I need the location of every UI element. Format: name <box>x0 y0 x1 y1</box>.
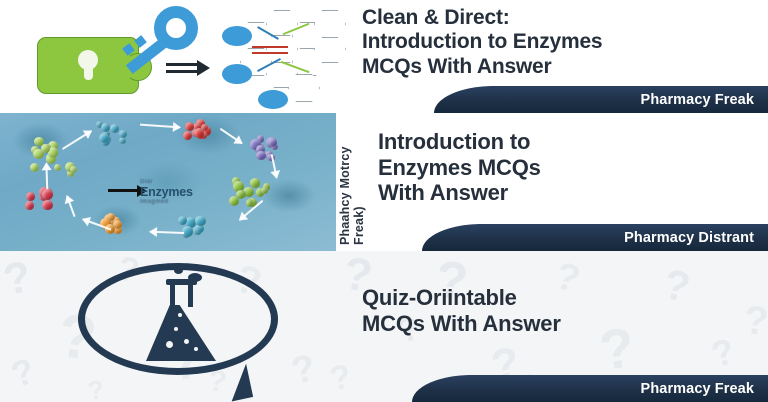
panel-quiz-flask: ???????????????????? <box>0 251 768 402</box>
panel-2-brand-label: Pharmacy Distrant <box>624 230 754 246</box>
panel-3-brand-label: Pharmacy Freak <box>641 381 754 397</box>
cycle-flow-arrow <box>140 124 180 129</box>
molecule-cluster <box>176 213 208 239</box>
panel-3-artwork <box>0 251 345 402</box>
cycle-flow-arrow <box>66 195 76 216</box>
speech-bubble-icon <box>78 263 278 375</box>
panel-enzyme-lock-key: Clean & Direct: Introduction to Enzymes … <box>0 0 768 113</box>
speech-bubble-tail <box>211 364 253 402</box>
molecule-cluster <box>98 211 128 235</box>
panel-2-brand-badge: Pharmacy Distrant <box>478 224 768 251</box>
arrow-head <box>197 60 210 76</box>
enzyme-center-label: Diar Enzymes Imagmed <box>140 179 193 205</box>
panel-1-text-column: Clean & Direct: Introduction to Enzymes … <box>340 0 768 113</box>
enzyme-label-main: Enzymes <box>140 185 193 199</box>
panel-enzyme-cycle: Diar Enzymes Imagmed Phaahcy Motrcy Frea… <box>0 113 768 251</box>
enzyme-pointer-arrow <box>108 189 138 192</box>
panel-1-brand-badge: Pharmacy Freak <box>490 86 768 113</box>
conical-flask-icon <box>144 283 216 361</box>
double-arrow-icon <box>166 60 214 78</box>
panel-1-brand-label: Pharmacy Freak <box>641 92 754 108</box>
panel-3-headline: Quiz-Oriintable MCQs With Answer <box>362 285 561 336</box>
molecule-cluster <box>182 119 212 143</box>
molecule-cluster <box>250 135 284 162</box>
key-tooth-one <box>122 43 135 56</box>
cycle-flow-arrow <box>45 163 48 189</box>
panel-1-artwork <box>0 0 345 113</box>
arrow-line-bottom <box>166 70 200 73</box>
poster-canvas: Clean & Direct: Introduction to Enzymes … <box>0 0 768 402</box>
keyhole-shape <box>78 50 98 70</box>
key-tooth-two <box>134 35 147 48</box>
molecule-cluster <box>22 187 54 213</box>
panel-1-headline: Clean & Direct: Introduction to Enzymes … <box>362 6 602 79</box>
blue-key-icon <box>118 6 198 64</box>
panel-3-brand-badge: Pharmacy Freak <box>468 375 768 402</box>
molecule-cluster <box>96 121 130 148</box>
panel-3-text-column: Quiz-Oriintable MCQs With Answer Pharmac… <box>340 251 768 402</box>
hexagonal-molecule-icon <box>222 8 344 108</box>
cycle-flow-arrow <box>150 230 184 234</box>
panel-2-text-column: Introduction to Enzymes MCQs With Answer… <box>340 113 768 251</box>
flask-neck-right <box>188 283 193 307</box>
enzyme-label-bottom: Imagmed <box>140 199 193 205</box>
flask-neck-left <box>170 283 175 307</box>
arrow-line-top <box>166 63 200 66</box>
panel-2-artwork: Diar Enzymes Imagmed <box>0 113 336 251</box>
molecule-cluster <box>228 175 272 210</box>
panel-2-headline: Introduction to Enzymes MCQs With Answer <box>378 129 541 206</box>
cycle-flow-arrow <box>220 128 243 145</box>
